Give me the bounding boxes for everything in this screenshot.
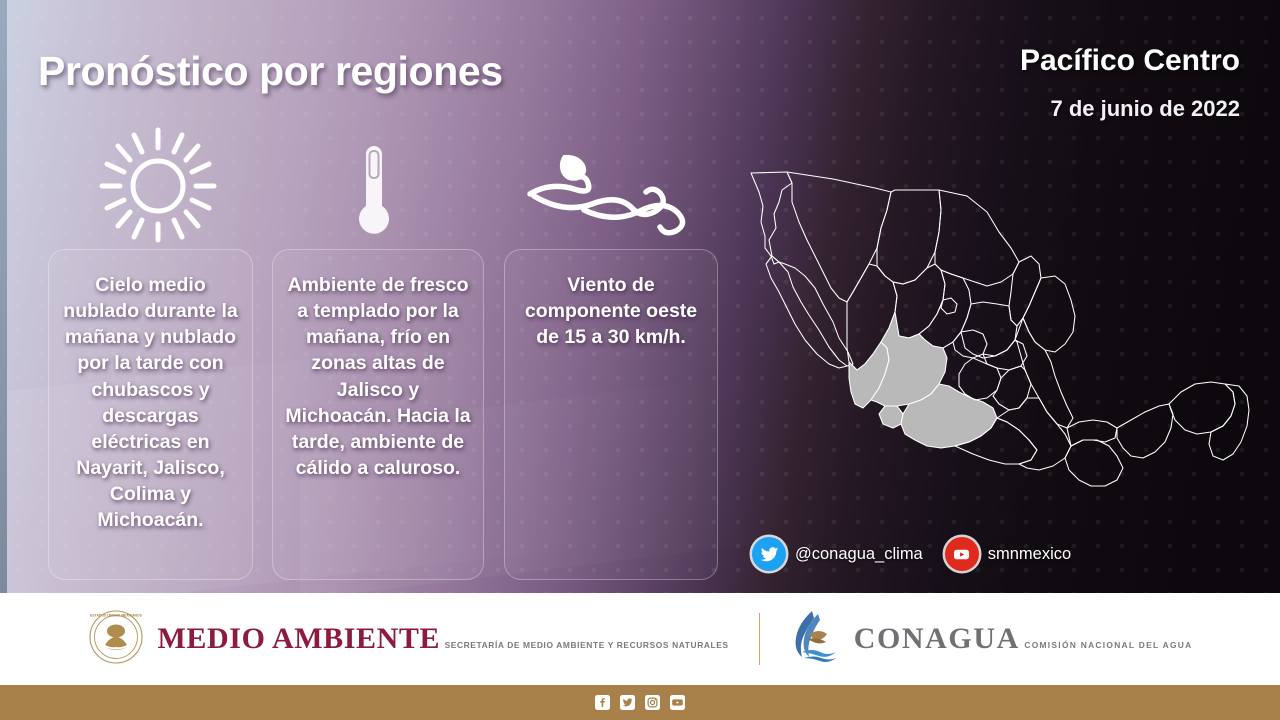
footer-divider xyxy=(759,613,760,665)
youtube-icon[interactable] xyxy=(670,695,685,710)
social-handles-row: @conagua_clima smnmexico xyxy=(752,537,1071,571)
social-item-twitter[interactable]: @conagua_clima xyxy=(752,537,923,571)
forecast-card-temperature-text: Ambiente de fresco a templado por la mañ… xyxy=(285,272,471,481)
forecast-card-wind: Viento de componente oeste de 15 a 30 km… xyxy=(504,249,718,580)
conagua-logo: CONAGUA COMISIÓN NACIONAL DEL AGUA xyxy=(790,608,1193,671)
instagram-icon[interactable] xyxy=(645,695,660,710)
region-name: Pacífico Centro xyxy=(1020,44,1240,78)
conagua-emblem-icon xyxy=(790,608,840,671)
forecast-card-temperature: Ambiente de fresco a templado por la mañ… xyxy=(272,249,484,580)
mexican-coat-of-arms-icon: ESTADOS UNIDOS MEXICANOS xyxy=(88,609,144,670)
sun-icon xyxy=(96,126,220,249)
forecast-card-wind-text: Viento de componente oeste de 15 a 30 km… xyxy=(517,272,705,350)
medio-ambiente-subtitle: SECRETARÍA DE MEDIO AMBIENTE Y RECURSOS … xyxy=(445,640,729,650)
left-edge-rail xyxy=(0,0,7,593)
medio-ambiente-logo: ESTADOS UNIDOS MEXICANOS MEDIO AMBIENTE … xyxy=(88,609,729,670)
bottom-social-bar xyxy=(0,685,1280,720)
medio-ambiente-title: MEDIO AMBIENTE xyxy=(158,622,441,655)
wind-icon xyxy=(524,144,700,241)
conagua-title: CONAGUA xyxy=(854,622,1020,655)
infographic-canvas: Pronóstico por regiones Pacífico Centro … xyxy=(0,0,1280,720)
social-item-youtube[interactable]: smnmexico xyxy=(945,537,1071,571)
youtube-handle: smnmexico xyxy=(988,545,1071,564)
twitter-icon[interactable] xyxy=(620,695,635,710)
forecast-card-sky: Cielo medio nublado durante la mañana y … xyxy=(48,249,253,580)
map-states-outline xyxy=(751,172,1249,486)
mexico-map xyxy=(735,152,1275,522)
page-title: Pronóstico por regiones xyxy=(38,48,503,95)
conagua-text: CONAGUA COMISIÓN NACIONAL DEL AGUA xyxy=(854,624,1193,654)
footer-logos-bar: ESTADOS UNIDOS MEXICANOS MEDIO AMBIENTE … xyxy=(0,593,1280,685)
forecast-card-sky-text: Cielo medio nublado durante la mañana y … xyxy=(61,272,240,533)
twitter-icon xyxy=(752,537,786,571)
youtube-icon xyxy=(945,537,979,571)
twitter-handle: @conagua_clima xyxy=(795,545,923,564)
forecast-date: 7 de junio de 2022 xyxy=(1050,96,1240,122)
facebook-icon[interactable] xyxy=(595,695,610,710)
conagua-subtitle: COMISIÓN NACIONAL DEL AGUA xyxy=(1024,640,1192,650)
thermometer-icon xyxy=(348,142,400,247)
svg-text:ESTADOS UNIDOS MEXICANOS: ESTADOS UNIDOS MEXICANOS xyxy=(90,613,142,617)
medio-ambiente-text: MEDIO AMBIENTE SECRETARÍA DE MEDIO AMBIE… xyxy=(158,624,729,654)
